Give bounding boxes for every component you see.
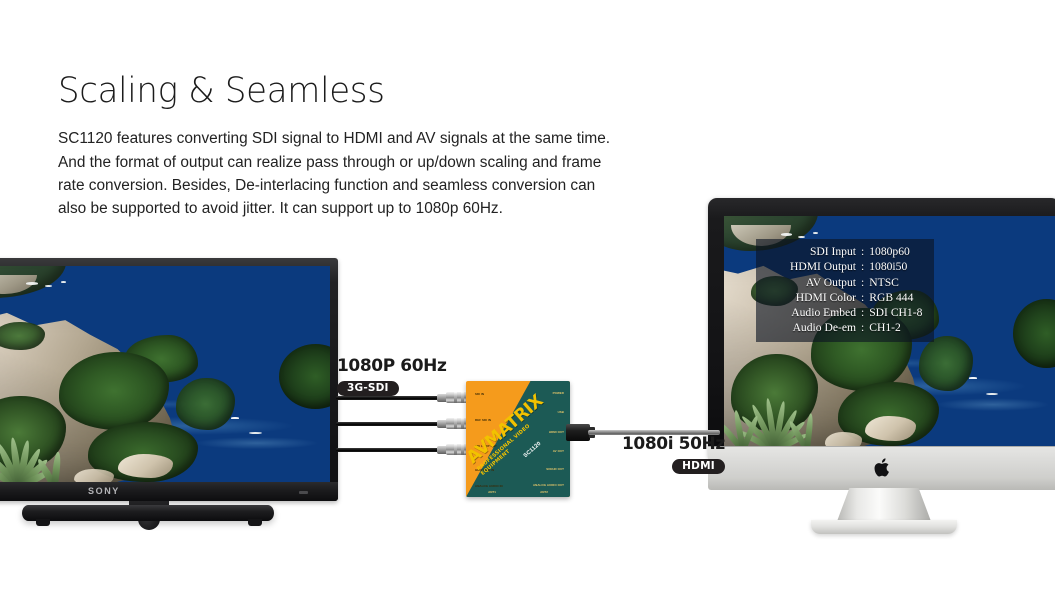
osd-colon: :	[861, 290, 869, 305]
ir-receiver-icon	[299, 491, 308, 494]
imac-screen: SDI Input : 1080p60 HDMI Output : 1080i5…	[724, 216, 1055, 446]
osd-key: AV Output	[764, 275, 861, 290]
bnc-connector	[438, 418, 468, 429]
rock-outcrop	[118, 454, 173, 478]
imac-chin	[708, 446, 1055, 490]
osd-value: SDI CH1-8	[869, 305, 922, 320]
imac-stand-neck	[836, 488, 932, 524]
port-label-ref-sdi-in: REF SDI IN	[475, 419, 491, 422]
bnc-barrel	[446, 418, 468, 429]
boat	[813, 232, 818, 234]
port-label-usb: USB	[558, 411, 564, 414]
agave-plants	[0, 417, 88, 482]
target-display-imac: SDI Input : 1080p60 HDMI Output : 1080i5…	[708, 198, 1055, 538]
bnc-ring	[454, 418, 457, 429]
bnc-boot	[437, 446, 446, 454]
osd-row: HDMI Output : 1080i50	[764, 259, 922, 274]
tv-screen	[0, 266, 330, 482]
tv-bezel: SONY	[0, 258, 338, 501]
bnc-ring	[461, 392, 464, 403]
converter-faceplate: SDI IN REF SDI IN SDI LOOP OUT GENLOCK I…	[466, 381, 570, 497]
osd-colon: :	[861, 259, 869, 274]
osd-value: RGB 444	[869, 290, 913, 305]
osd-key: Audio Embed	[764, 305, 861, 320]
boat	[798, 236, 805, 238]
boat	[26, 282, 38, 284]
bnc-boot	[437, 420, 446, 428]
port-label-sdi-in: SDI IN	[475, 393, 484, 396]
tv-chin: SONY	[0, 482, 338, 501]
bnc-barrel	[446, 444, 468, 455]
converter-foot-labels: ANT1 ANT2	[466, 490, 570, 494]
osd-value: 1080p60	[869, 244, 910, 259]
sony-logo: SONY	[88, 486, 120, 496]
bnc-barrel	[446, 392, 468, 403]
section-description: SC1120 features converting SDI signal to…	[58, 127, 618, 221]
foot-label: ANT1	[488, 490, 496, 494]
osd-row: SDI Input : 1080p60	[764, 244, 922, 259]
imac-stand-foot	[811, 520, 957, 534]
sdi-to-hdmi-converter: SDI IN REF SDI IN SDI LOOP OUT GENLOCK I…	[466, 381, 570, 497]
input-link-label: 1080P 60Hz 3G-SDI	[337, 358, 446, 396]
osd-row: Audio De-em : CH1-2	[764, 320, 922, 335]
apple-logo-icon	[874, 457, 892, 478]
boat	[781, 233, 792, 236]
foot-label: ANT2	[540, 490, 548, 494]
osd-row: Audio Embed : SDI CH1-8	[764, 305, 922, 320]
osd-value: 1080i50	[869, 259, 907, 274]
osd-row: AV Output : NTSC	[764, 275, 922, 290]
osd-key: Audio De-em	[764, 320, 861, 335]
osd-colon: :	[861, 275, 869, 290]
osd-overlay: SDI Input : 1080p60 HDMI Output : 1080i5…	[756, 239, 934, 342]
input-interface-badge: 3G-SDI	[337, 381, 399, 397]
input-format-text: 1080P 60Hz	[337, 358, 446, 376]
copy-block: Scaling & Seamless SC1120 features conve…	[58, 72, 638, 221]
bnc-ring	[461, 418, 464, 429]
output-link-label: 1080i 50Hz HDMI	[622, 436, 725, 474]
page-title: Scaling & Seamless	[58, 72, 621, 111]
osd-key: HDMI Output	[764, 259, 861, 274]
agave-plants	[724, 377, 838, 446]
osd-value: CH1-2	[869, 320, 901, 335]
rock-outcrop	[865, 416, 915, 441]
tv-stand-foot	[36, 519, 50, 526]
scaling-seamless-slide: Scaling & Seamless SC1120 features conve…	[0, 0, 1055, 600]
port-label-power: POWER	[553, 392, 564, 395]
osd-key: HDMI Color	[764, 290, 861, 305]
boat	[45, 285, 52, 287]
osd-row: HDMI Color : RGB 444	[764, 290, 922, 305]
port-label-analog-audio-out: ANALOG AUDIO OUT	[533, 484, 564, 487]
output-interface-badge: HDMI	[672, 459, 725, 475]
vegetation	[919, 336, 973, 391]
hdmi-connector	[566, 424, 590, 441]
osd-key: SDI Input	[764, 244, 861, 259]
output-format-text: 1080i 50Hz	[622, 436, 725, 454]
source-display-tv: SONY	[0, 258, 338, 540]
bnc-ring	[461, 444, 464, 455]
boat	[969, 377, 976, 379]
vegetation	[176, 378, 235, 430]
tv-stand-base	[22, 505, 274, 521]
tv-stand-foot	[248, 519, 262, 526]
osd-colon: :	[861, 305, 869, 320]
bnc-ring	[454, 444, 457, 455]
osd-value: NTSC	[869, 275, 899, 290]
osd-colon: :	[861, 320, 869, 335]
bnc-ring	[454, 392, 457, 403]
tv-scene-image	[0, 266, 330, 482]
port-label-sdi-hd-out: SDI/HD OUT	[546, 468, 564, 471]
imac-bezel: SDI Input : 1080p60 HDMI Output : 1080i5…	[708, 198, 1055, 458]
bnc-connector	[438, 444, 468, 455]
osd-colon: :	[861, 244, 869, 259]
